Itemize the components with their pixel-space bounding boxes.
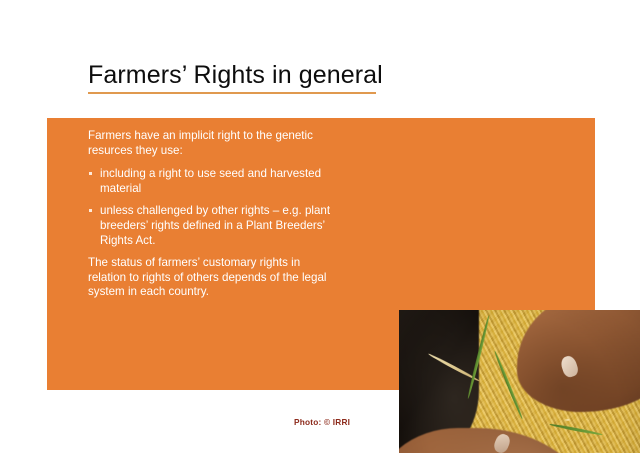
- bullet-dot-icon: [89, 172, 92, 175]
- bullet-dot-icon: [89, 209, 92, 212]
- list-item: including a right to use seed and harves…: [88, 167, 336, 196]
- title-underline-rule: [88, 92, 376, 94]
- photo-vignette-overlay: [399, 310, 640, 453]
- photo-credit-label: Photo: © IRRI: [294, 417, 350, 427]
- list-item: unless challenged by other rights – e.g.…: [88, 204, 336, 248]
- closing-paragraph: The status of farmers’ customary rights …: [88, 256, 336, 300]
- slide-canvas: Farmers’ Rights in general Farmers have …: [0, 0, 640, 453]
- body-text-block: Farmers have an implicit right to the ge…: [88, 129, 336, 307]
- rice-harvest-photo: [399, 310, 640, 453]
- title-block: Farmers’ Rights in general: [88, 61, 378, 94]
- list-item-label: including a right to use seed and harves…: [100, 167, 336, 196]
- lead-paragraph: Farmers have an implicit right to the ge…: [88, 129, 336, 158]
- list-item-label: unless challenged by other rights – e.g.…: [100, 204, 336, 248]
- content-panel: Farmers have an implicit right to the ge…: [47, 118, 595, 390]
- page-title: Farmers’ Rights in general: [88, 61, 378, 90]
